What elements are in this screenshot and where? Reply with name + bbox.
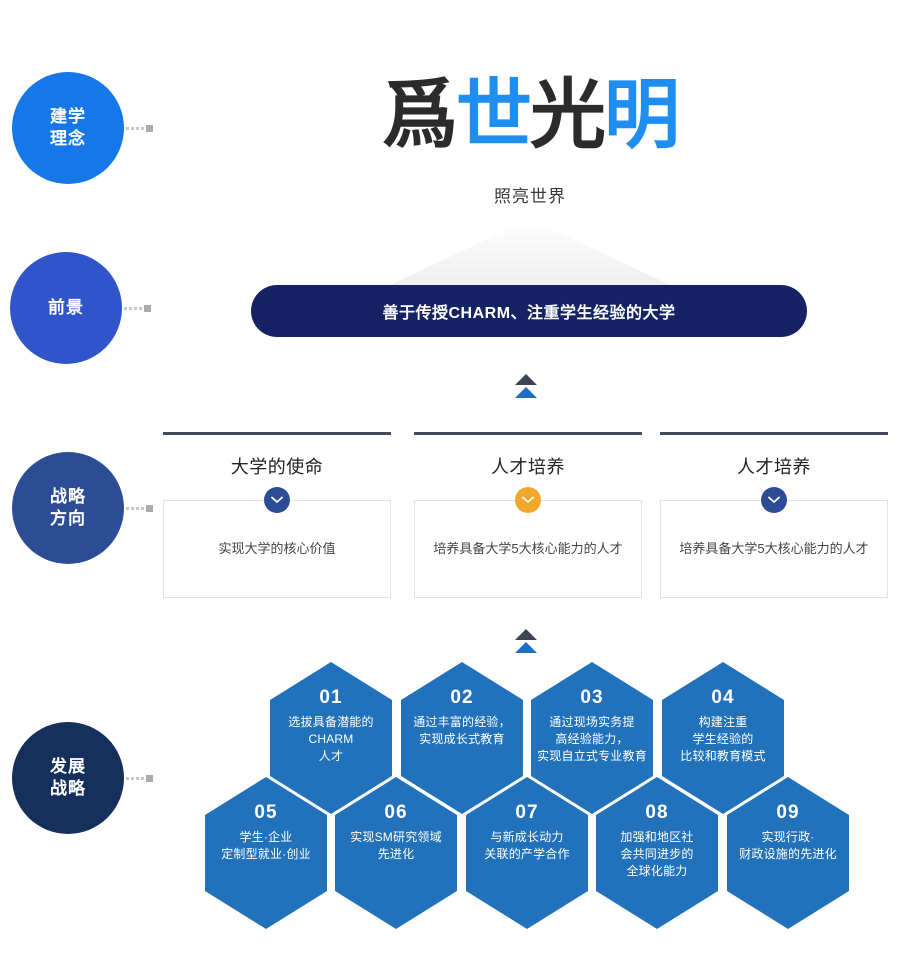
connector-dot [124, 307, 127, 310]
hex-text: 与新成长动力关联的产学合作 [478, 829, 575, 863]
chevron-backdrop-shape [390, 219, 670, 285]
hex-number: 03 [580, 687, 603, 710]
strategy-column-body-text: 培养具备大学5大核心能力的人才 [433, 539, 622, 559]
headline-char-4: 明 [604, 73, 678, 158]
hex-number: 06 [384, 802, 407, 825]
strategy-column-title: 人才培养 [414, 453, 642, 479]
strategy-column-body-text: 实现大学的核心价值 [218, 539, 335, 559]
connector-dot [141, 507, 144, 510]
connector-endpoint [144, 305, 151, 312]
connector-endpoint [146, 125, 153, 132]
headline-char-3: 光 [530, 73, 604, 158]
headline-char-2: 世 [456, 73, 530, 158]
connector-dot [126, 127, 129, 130]
triangle-up-blue-icon [515, 642, 537, 653]
headline-subtitle: 照亮世界 [240, 182, 820, 207]
triangle-up-dark-icon [515, 629, 537, 640]
strategy-column-talent-2: 人才培养 培养具备大学5大核心能力的人才 [660, 432, 888, 479]
stage-label-philosophy: 建学 理念 [50, 106, 86, 151]
hex-number: 09 [776, 802, 799, 825]
hex-number: 05 [254, 802, 277, 825]
strategy-column-mission: 大学的使命 实现大学的核心价值 [163, 432, 391, 479]
connector-dot [131, 507, 134, 510]
vision-statement-pill: 善于传授CHARM、注重学生经验的大学 [251, 285, 807, 337]
vision-statement-text: 善于传授CHARM、注重学生经验的大学 [382, 299, 675, 323]
separator-arrows-lower [509, 629, 543, 653]
hex-text: 选拔具备潜能的CHARM人才 [282, 714, 379, 765]
chevron-down-icon[interactable] [761, 487, 787, 513]
headline-char-1: 爲 [382, 73, 456, 158]
connector-dot [141, 127, 144, 130]
connector-dot [136, 507, 139, 510]
connector-dot [131, 127, 134, 130]
hex-number: 04 [711, 687, 734, 710]
hex-number: 07 [515, 802, 538, 825]
chevron-down-icon[interactable] [264, 487, 290, 513]
chevron-down-icon[interactable] [515, 487, 541, 513]
strategy-column-body-box: 培养具备大学5大核心能力的人才 [414, 500, 642, 598]
strategy-column-body-box: 实现大学的核心价值 [163, 500, 391, 598]
column-top-rule [414, 432, 642, 435]
hex-text: 构建注重学生经验的比较和教育模式 [674, 714, 771, 765]
hex-text: 学生·企业定制型就业·创业 [215, 829, 317, 863]
stage-label-strategy: 战略 方向 [50, 486, 86, 531]
column-top-rule [660, 432, 888, 435]
connector-endpoint [146, 505, 153, 512]
development-strategy-hex-grid: 01 选拔具备潜能的CHARM人才 02 通过丰富的经验，实现成长式教育 03 … [0, 660, 901, 940]
stage-circle-vision: 前景 [10, 252, 122, 364]
stage-label-line2: 方向 [50, 508, 86, 530]
dotted-connector-vision [124, 305, 151, 312]
dotted-connector-strategy [126, 505, 153, 512]
triangle-up-blue-icon [515, 387, 537, 398]
strategy-column-talent-1: 人才培养 培养具备大学5大核心能力的人才 [414, 432, 642, 479]
hex-number: 01 [319, 687, 342, 710]
stage-label-line2: 理念 [50, 128, 86, 150]
stage-label-line1: 战略 [50, 486, 86, 508]
strategy-column-body-text: 培养具备大学5大核心能力的人才 [679, 539, 868, 559]
strategy-infographic: 建学 理念 前景 战略 方向 发展 战略 [0, 0, 901, 962]
stage-label-line1: 建学 [50, 106, 86, 128]
stage-label-vision: 前景 [48, 297, 84, 319]
headline-slogan: 爲世光明 [240, 78, 820, 154]
connector-dot [136, 127, 139, 130]
strategy-column-body-box: 培养具备大学5大核心能力的人才 [660, 500, 888, 598]
separator-arrows-upper [509, 374, 543, 398]
hex-number: 08 [645, 802, 668, 825]
stage-label-line1: 前景 [48, 297, 84, 319]
hex-text: 加强和地区社会共同进步的全球化能力 [614, 829, 699, 880]
hex-text: 实现行政·财政设施的先进化 [733, 829, 843, 863]
strategy-direction-section: 大学的使命 实现大学的核心价值 人才培养 培养具备大学5大核心能力的人才 人才培… [163, 432, 888, 602]
hex-text: 实现SM研究领域先进化 [344, 829, 448, 863]
hex-text: 通过现场实务提高经验能力，实现自立式专业教育 [531, 714, 653, 765]
triangle-up-dark-icon [515, 374, 537, 385]
column-top-rule [163, 432, 391, 435]
connector-dot [134, 307, 137, 310]
hex-number: 02 [450, 687, 473, 710]
strategy-column-title: 人才培养 [660, 453, 888, 479]
strategy-column-title: 大学的使命 [163, 453, 391, 479]
stage-circle-strategy: 战略 方向 [12, 452, 124, 564]
connector-dot [139, 307, 142, 310]
connector-dot [129, 307, 132, 310]
dotted-connector-philosophy [126, 125, 153, 132]
connector-dot [126, 507, 129, 510]
hex-text: 通过丰富的经验，实现成长式教育 [407, 714, 517, 748]
stage-circle-philosophy: 建学 理念 [12, 72, 124, 184]
